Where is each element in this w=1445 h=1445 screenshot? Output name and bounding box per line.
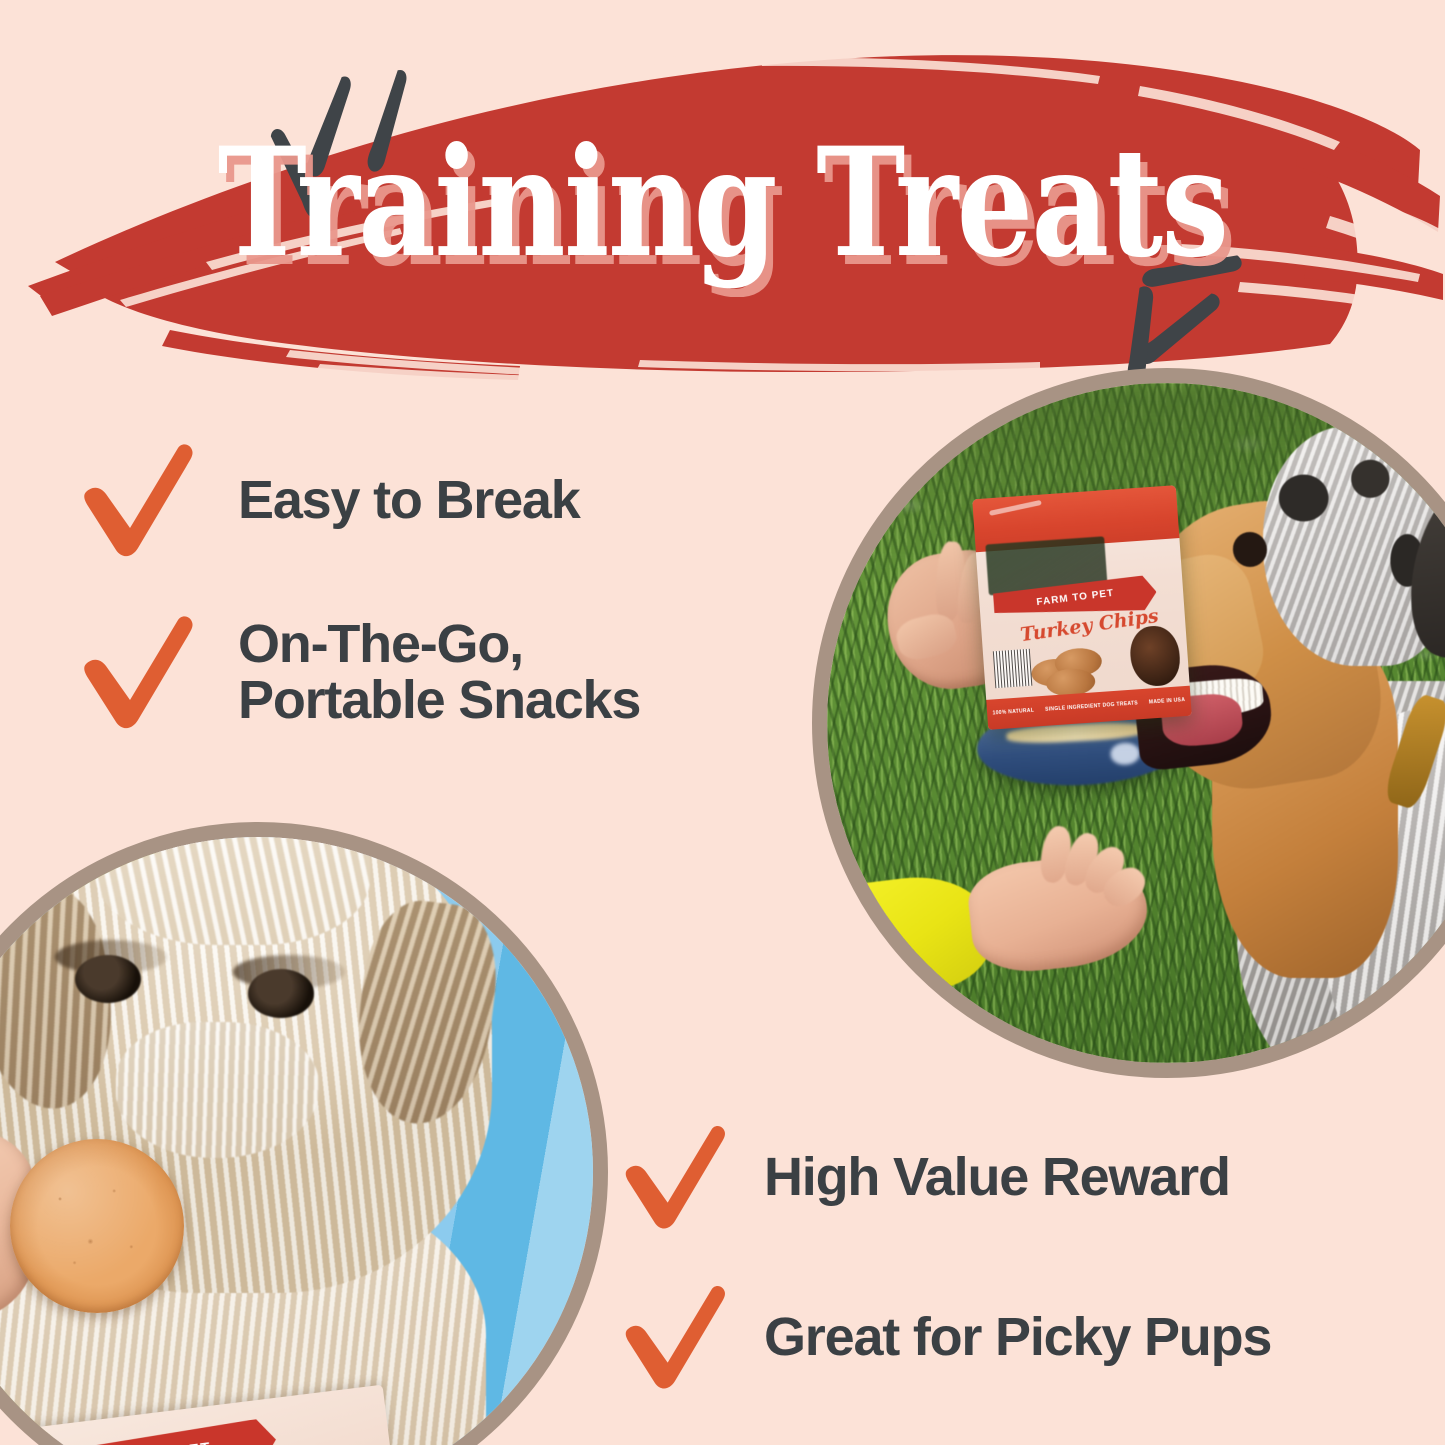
title-banner: Training Treats — [0, 0, 1445, 400]
feature-picky-pups: Great for Picky Pups — [620, 1282, 1271, 1392]
package-brand: FARM TO PET — [1036, 587, 1115, 607]
aussie-treat-photo: FARM TO PET Turkey Chips 100% NATURAL SI… — [812, 368, 1445, 1078]
feature-easy-to-break: Easy to Break — [78, 440, 580, 560]
feature-on-the-go: On-The-Go, Portable Snacks — [78, 612, 640, 732]
check-icon — [620, 1282, 730, 1392]
check-icon — [78, 612, 198, 732]
feature-label: High Value Reward — [764, 1149, 1230, 1205]
check-icon — [620, 1122, 730, 1232]
turkey-chips-package: FARM TO PET Turkey Chips 100% NATURAL SI… — [972, 485, 1192, 730]
check-icon — [78, 440, 198, 560]
claim-single-ingredient: SINGLE INGREDIENT DOG TREATS — [1045, 701, 1138, 713]
feature-label: On-The-Go, Portable Snacks — [238, 616, 640, 728]
feature-label: Easy to Break — [238, 472, 580, 528]
claim-made-in-usa: MADE IN USA — [1149, 698, 1186, 706]
promo-graphic: Training Treats — [0, 0, 1445, 1445]
claim-natural: 100% NATURAL — [993, 709, 1035, 718]
feature-label: Great for Picky Pups — [764, 1309, 1271, 1365]
feature-high-value-reward: High Value Reward — [620, 1122, 1230, 1232]
page-title: Training Treats — [145, 128, 1301, 278]
shihtzu-treat-photo: FARM TO PET Turkey Chips — [0, 822, 608, 1445]
turkey-chip-treat — [10, 1139, 184, 1313]
package-brand-small: FARM TO PET — [94, 1439, 212, 1445]
